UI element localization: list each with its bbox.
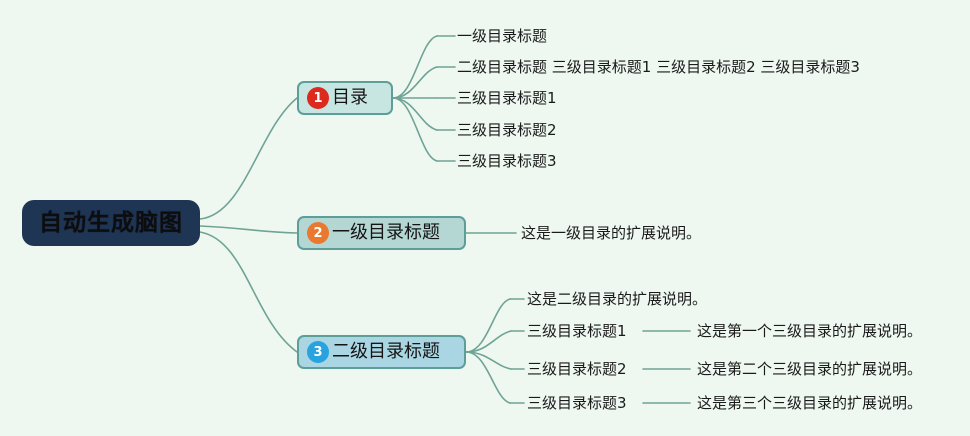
branch-3-child-1[interactable]: 这是二级目录的扩展说明。 [527,292,707,307]
edge-branch-1-child-2 [393,67,437,98]
branch-3-child-3-detail[interactable]: 这是第二个三级目录的扩展说明。 [697,362,922,377]
edge-branch-1-child-1 [393,36,437,98]
branch-2-child-1[interactable]: 这是一级目录的扩展说明。 [521,226,701,241]
branch-1-child-4[interactable]: 三级目录标题2 [457,123,557,138]
edge-root-to-branch-2 [200,226,297,233]
branch-node-3[interactable]: 3 二级目录标题 [297,335,466,369]
edge-branch-3-child-4 [466,352,510,403]
branch-3-number-badge: 3 [307,341,329,363]
edge-branch-3-child-1 [466,299,510,352]
edge-branch-1-child-4 [393,98,437,130]
branch-3-child-4-detail[interactable]: 这是第三个三级目录的扩展说明。 [697,396,922,411]
branch-2-number-badge: 2 [307,222,329,244]
root-node[interactable]: 自动生成脑图 [22,200,200,246]
branch-1-child-1[interactable]: 一级目录标题 [457,29,547,44]
branch-3-child-4[interactable]: 三级目录标题3 [527,396,627,411]
branch-node-2[interactable]: 2 一级目录标题 [297,216,466,250]
branch-2-label: 一级目录标题 [332,224,440,242]
branch-3-label: 二级目录标题 [332,343,440,361]
edge-root-to-branch-3 [200,232,297,352]
edge-branch-1-child-5 [393,98,437,161]
edge-branch-3-child-3 [466,352,511,369]
branch-1-label: 目录 [332,89,368,107]
branch-3-child-2[interactable]: 三级目录标题1 [527,324,627,339]
edge-root-to-branch-1 [200,98,297,219]
branch-1-child-3[interactable]: 三级目录标题1 [457,91,557,106]
branch-1-child-2[interactable]: 二级目录标题 三级目录标题1 三级目录标题2 三级目录标题3 [457,60,860,75]
branch-node-1[interactable]: 1 目录 [297,81,393,115]
branch-1-number-badge: 1 [307,87,329,109]
branch-1-child-5[interactable]: 三级目录标题3 [457,154,557,169]
branch-3-child-2-detail[interactable]: 这是第一个三级目录的扩展说明。 [697,324,922,339]
edge-branch-3-child-2 [466,331,511,352]
root-node-label: 自动生成脑图 [39,212,183,235]
mindmap-canvas: 自动生成脑图 1 目录 一级目录标题 二级目录标题 三级目录标题1 三级目录标题… [0,0,970,436]
branch-3-child-3[interactable]: 三级目录标题2 [527,362,627,377]
